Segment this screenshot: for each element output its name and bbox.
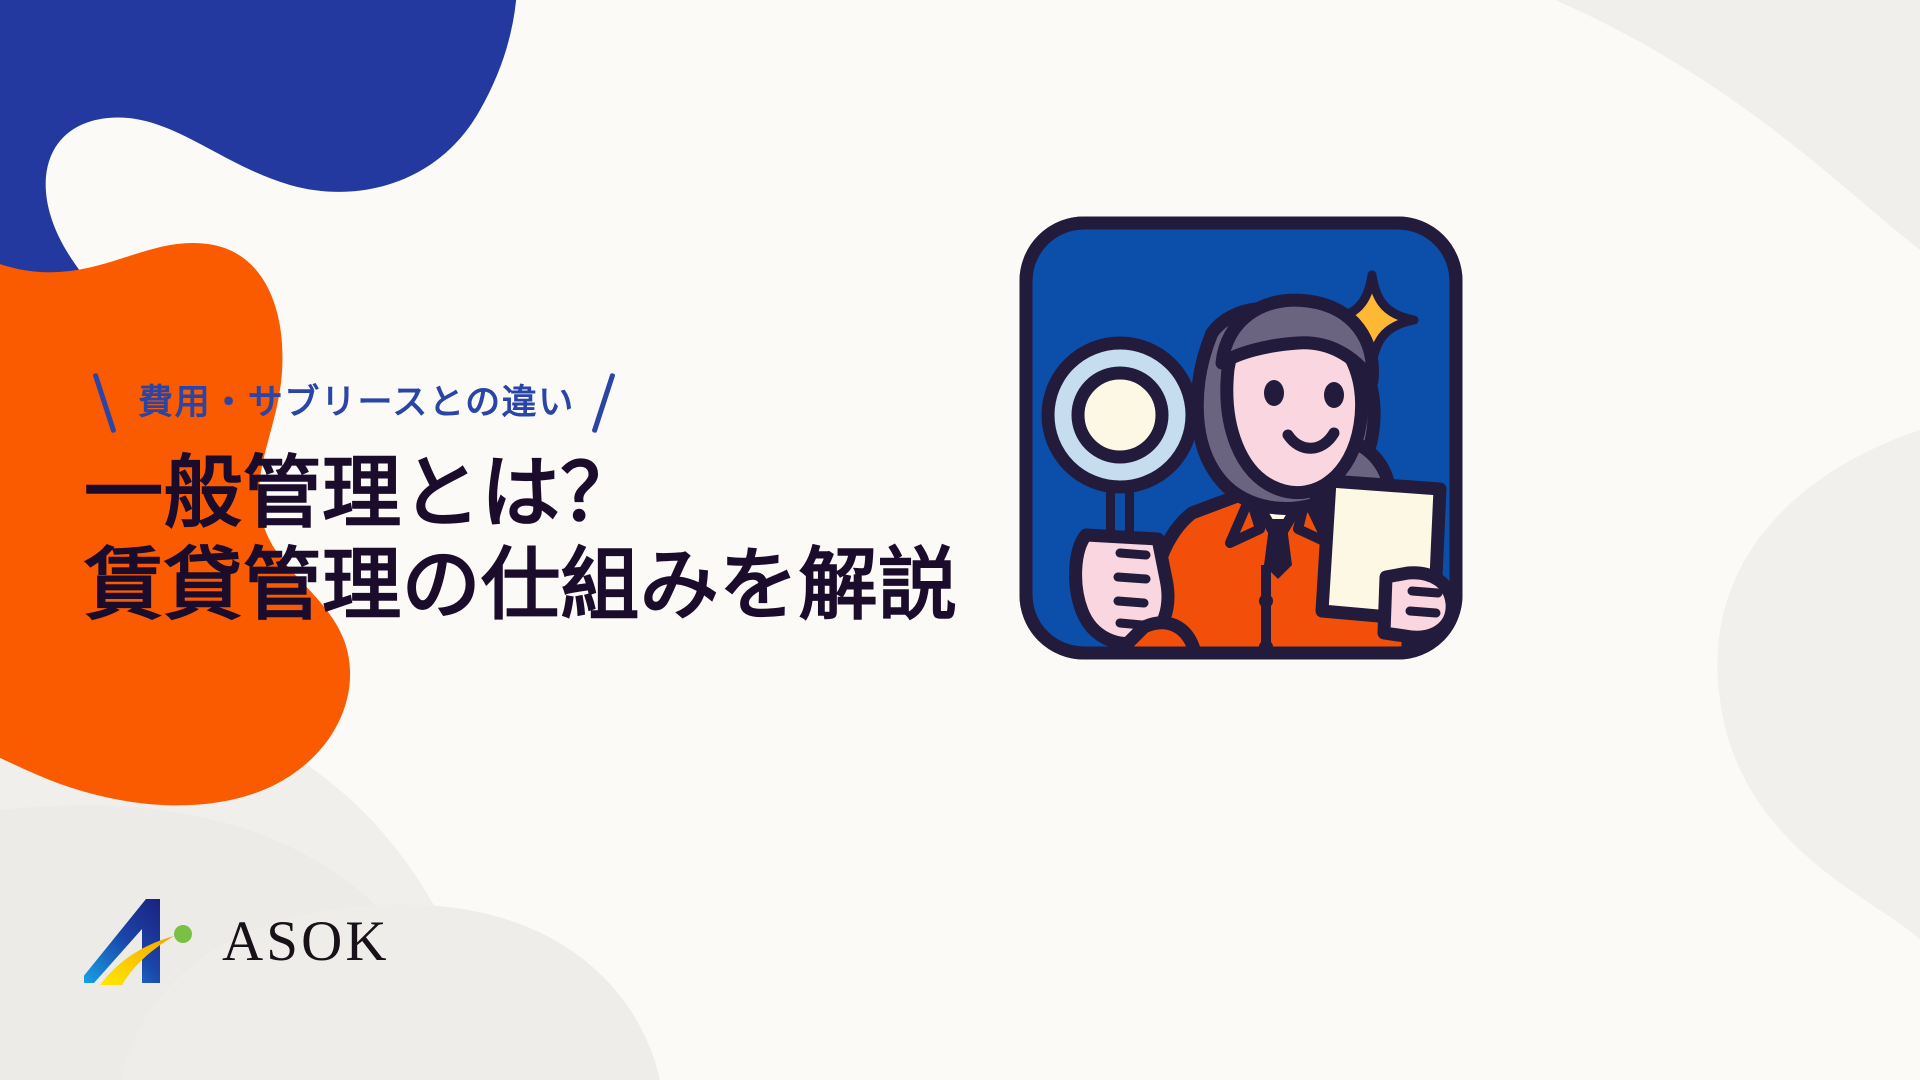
hero-illustration [1016, 213, 1466, 663]
banner-canvas: 費用・サブリースとの違い 一般管理とは？ 賃貸管理の仕組みを解説 [0, 0, 1920, 1080]
headline-block: 費用・サブリースとの違い 一般管理とは？ 賃貸管理の仕組みを解説 [84, 372, 1084, 631]
page-title: 一般管理とは？ 賃貸管理の仕組みを解説 [84, 448, 1084, 631]
eyebrow-right-slash-icon [589, 375, 619, 431]
eyebrow-left-slash-icon [90, 375, 120, 431]
title-line-1: 一般管理とは？ [84, 448, 1084, 540]
eye-right [1324, 382, 1344, 408]
logo-green-dot [174, 925, 192, 943]
logo-wordmark: ASOK [222, 913, 390, 970]
eye-left [1264, 380, 1284, 406]
eyebrow-text: 費用・サブリースとの違い [120, 386, 589, 421]
title-line-2: 賃貸管理の仕組みを解説 [84, 540, 1084, 632]
asok-a-mark-icon [84, 895, 204, 987]
magnifier-lens [1078, 373, 1162, 457]
illustration-svg [1016, 213, 1466, 663]
eyebrow: 費用・サブリースとの違い [90, 372, 1084, 434]
asok-logo: ASOK [84, 895, 390, 987]
